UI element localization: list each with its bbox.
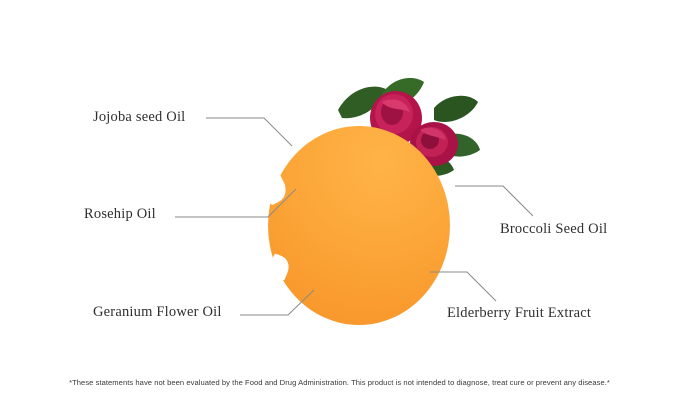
callout-label-geranium: Geranium Flower Oil bbox=[93, 304, 222, 321]
leader-line-broccoli bbox=[455, 186, 533, 216]
fda-disclaimer: *These statements have not been evaluate… bbox=[0, 378, 679, 387]
callout-label-rosehip: Rosehip Oil bbox=[84, 206, 156, 223]
ingredient-callout-graphic: Jojoba seed Oil Rosehip Oil Geranium Flo… bbox=[0, 0, 679, 420]
callout-label-jojoba: Jojoba seed Oil bbox=[93, 109, 185, 126]
leader-line-geranium bbox=[240, 290, 314, 315]
leader-line-rosehip bbox=[175, 189, 296, 217]
callout-label-elderberry: Elderberry Fruit Extract bbox=[447, 305, 591, 322]
leader-line-elderberry bbox=[430, 272, 496, 301]
callout-label-broccoli: Broccoli Seed Oil bbox=[500, 221, 607, 238]
leader-line-jojoba bbox=[206, 118, 292, 146]
